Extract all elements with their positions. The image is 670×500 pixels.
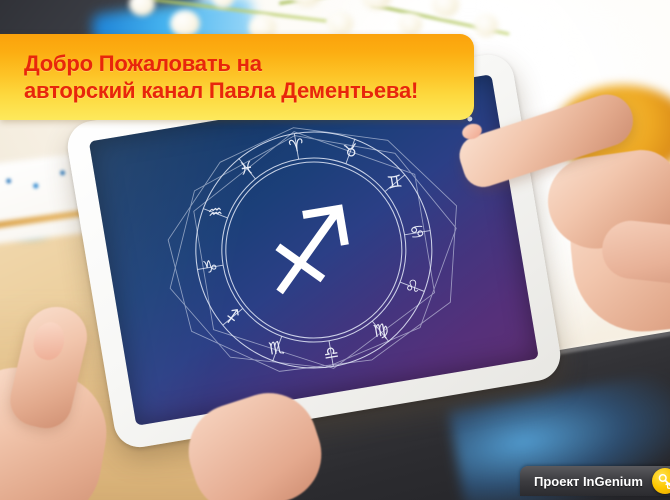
banner-line-1: Добро Пожаловать на [24, 50, 474, 77]
svg-text:♎: ♎ [322, 342, 340, 364]
watermark-label: Проект InGenium [534, 474, 643, 489]
center-sign-glyph: ♐ [252, 183, 368, 322]
svg-text:♑: ♑ [201, 256, 219, 278]
svg-text:♊: ♊ [386, 172, 404, 194]
svg-text:♈: ♈ [287, 135, 305, 157]
svg-text:♌: ♌ [403, 276, 421, 298]
svg-text:♉: ♉ [342, 140, 360, 162]
welcome-banner: Добро Пожаловать на авторский канал Павл… [0, 34, 474, 120]
svg-text:♍: ♍ [372, 320, 390, 342]
svg-text:♓: ♓ [237, 158, 255, 180]
svg-text:♐: ♐ [252, 183, 368, 322]
svg-text:♏: ♏ [267, 337, 285, 359]
watermark-badge[interactable]: Проект InGenium [520, 466, 670, 496]
svg-text:♒: ♒ [206, 202, 224, 224]
svg-text:♋: ♋ [408, 222, 426, 244]
svg-text:♐: ♐ [224, 306, 242, 328]
screenshot-canvas: ♈ ♉ ♊ ♋ ♌ ♍ ♎ ♏ ♐ ♑ ♒ ♓ ♐ [0, 0, 670, 500]
banner-line-2: авторский канал Павла Дементьева! [24, 77, 474, 104]
key-magnifier-icon [652, 468, 670, 494]
